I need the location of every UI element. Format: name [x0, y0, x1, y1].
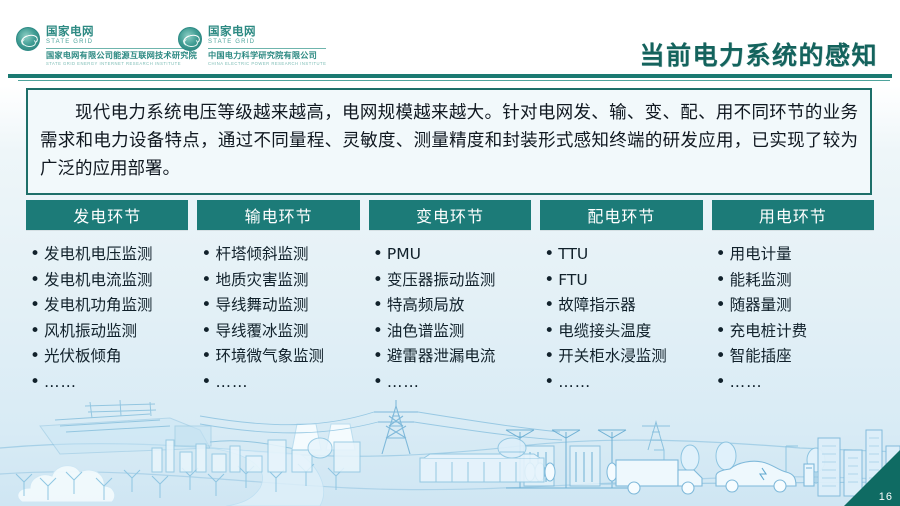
list-item-label: 故障指示器 [558, 293, 636, 319]
list-item: •FTU [544, 268, 702, 294]
list-item-label: 充电桩计费 [730, 319, 808, 345]
list-item-label: 发电机功角监测 [44, 293, 153, 319]
list-item: •电缆接头温度 [544, 319, 702, 345]
column-item-list: •PMU •变压器振动监测 •特高频局放 •油色谱监测 •避雷器泄漏电流 •…… [369, 240, 531, 407]
list-item-ellipsis: •…… [30, 370, 188, 396]
slide-root: 国家电网 STATE GRID 国家电网有限公司能源互联网技术研究院 STATE… [0, 0, 900, 506]
page-number: 16 [879, 491, 893, 503]
list-item-label: 用电计量 [730, 242, 792, 268]
column-item-list: •用电计量 •能耗监测 •随器量测 •充电桩计费 •智能插座 •…… [712, 240, 874, 407]
logo-state-grid-cepri: 国家电网 STATE GRID 中国电力科学研究院有限公司 CHINA ELEC… [178, 26, 326, 67]
bullet-dot-icon: • [544, 268, 554, 294]
column-item-list: •TTU •FTU •故障指示器 •电缆接头温度 •开关柜水浸监测 •…… [540, 240, 702, 407]
list-item-label: 变压器振动监测 [387, 268, 496, 294]
logo-divider [46, 48, 197, 49]
list-item-label: 电缆接头温度 [558, 319, 651, 345]
list-item: •随器量测 [716, 293, 874, 319]
column-header: 用电环节 [712, 200, 874, 230]
state-grid-emblem-icon [16, 27, 40, 51]
list-item: •发电机电压监测 [30, 242, 188, 268]
bullet-dot-icon: • [373, 242, 383, 268]
list-item: •地质灾害监测 [201, 268, 359, 294]
slide-header: 国家电网 STATE GRID 国家电网有限公司能源互联网技术研究院 STATE… [0, 0, 900, 78]
bullet-dot-icon: • [544, 319, 554, 345]
transmission-tower-icon [374, 400, 418, 454]
column-distribution: 配电环节 •TTU •FTU •故障指示器 •电缆接头温度 •开关柜水浸监测 •… [540, 200, 702, 407]
bullet-dot-icon: • [716, 242, 726, 268]
list-item-label: 杆塔倾斜监测 [215, 242, 308, 268]
list-item: •导线覆冰监测 [201, 319, 359, 345]
distribution-tower-icon [642, 422, 670, 450]
header-rule-thick [8, 74, 892, 78]
list-item-label: 随器量测 [730, 293, 792, 319]
bullet-dot-icon: • [201, 242, 211, 268]
column-header: 输电环节 [197, 200, 359, 230]
bullet-dot-icon: • [30, 293, 40, 319]
bullet-dot-icon: • [201, 319, 211, 345]
list-item-label: 油色谱监测 [387, 319, 465, 345]
logo-divider [208, 48, 326, 49]
logo-text-block: 国家电网 STATE GRID 中国电力科学研究院有限公司 CHINA ELEC… [208, 26, 326, 67]
bullet-dot-icon: • [30, 268, 40, 294]
list-item: •油色谱监测 [373, 319, 531, 345]
list-item: •开关柜水浸监测 [544, 344, 702, 370]
list-item-label: 避雷器泄漏电流 [387, 344, 496, 370]
logo-institute-en: STATE GRID ENERGY INTERNET RESEARCH INST… [46, 61, 197, 67]
logo-text-block: 国家电网 STATE GRID 国家电网有限公司能源互联网技术研究院 STATE… [46, 26, 197, 67]
list-item-label: 导线舞动监测 [215, 293, 308, 319]
bullet-dot-icon: • [201, 344, 211, 370]
cloud-icon [18, 466, 115, 502]
charging-post-icon [804, 464, 814, 486]
logo-institute-en: CHINA ELECTRIC POWER RESEARCH INSTITUTE [208, 61, 326, 67]
logo-company-cn: 国家电网 [208, 26, 326, 38]
bullet-dot-icon: • [30, 242, 40, 268]
bullet-dot-icon: • [544, 293, 554, 319]
logo-institute-cn: 中国电力科学研究院有限公司 [208, 51, 326, 61]
power-grid-illustration: 16 [0, 396, 900, 506]
list-item: •杆塔倾斜监测 [201, 242, 359, 268]
list-item-label: 发电机电压监测 [44, 242, 153, 268]
list-item-label: 导线覆冰监测 [215, 319, 308, 345]
power-lines-icon [200, 412, 562, 440]
list-item-label: 地质灾害监测 [215, 268, 308, 294]
column-substation: 变电环节 •PMU •变压器振动监测 •特高频局放 •油色谱监测 •避雷器泄漏电… [369, 200, 531, 407]
list-item: •风机振动监测 [30, 319, 188, 345]
bullet-dot-icon: • [201, 268, 211, 294]
state-grid-emblem-icon [178, 27, 202, 51]
list-item-label: TTU [558, 242, 588, 268]
column-consumption: 用电环节 •用电计量 •能耗监测 •随器量测 •充电桩计费 •智能插座 •…… [712, 200, 874, 407]
column-generation: 发电环节 •发电机电压监测 •发电机电流监测 •发电机功角监测 •风机振动监测 … [26, 200, 188, 407]
grid-scene-svg [0, 396, 900, 506]
column-item-list: •发电机电压监测 •发电机电流监测 •发电机功角监测 •风机振动监测 •光伏板倾… [26, 240, 188, 407]
list-item-label: 智能插座 [730, 344, 792, 370]
list-item: •导线舞动监测 [201, 293, 359, 319]
list-item: •特高频局放 [373, 293, 531, 319]
bullet-dot-icon: • [716, 370, 726, 396]
list-item-label: 发电机电流监测 [44, 268, 153, 294]
bullet-dot-icon: • [30, 370, 40, 396]
list-item-ellipsis: •…… [373, 370, 531, 396]
segment-columns: 发电环节 •发电机电压监测 •发电机电流监测 •发电机功角监测 •风机振动监测 … [26, 200, 874, 407]
list-item-ellipsis: •…… [716, 370, 874, 396]
list-item-label: …… [387, 370, 420, 396]
list-item: •用电计量 [716, 242, 874, 268]
intro-paragraph-box: 现代电力系统电压等级越来越高，电网规模越来越大。针对电网发、输、变、配、用不同环… [26, 88, 872, 195]
bullet-dot-icon: • [373, 344, 383, 370]
bullet-dot-icon: • [201, 293, 211, 319]
list-item-label: PMU [387, 242, 421, 268]
bullet-dot-icon: • [544, 370, 554, 396]
logo-company-en: STATE GRID [46, 38, 197, 46]
list-item-label: …… [558, 370, 591, 396]
column-transmission: 输电环节 •杆塔倾斜监测 •地质灾害监测 •导线舞动监测 •导线覆冰监测 •环境… [197, 200, 359, 407]
column-header: 发电环节 [26, 200, 188, 230]
bullet-dot-icon: • [373, 268, 383, 294]
list-item-ellipsis: •…… [201, 370, 359, 396]
page-title: 当前电力系统的感知 [639, 36, 878, 72]
list-item-label: …… [44, 370, 77, 396]
bullet-dot-icon: • [544, 344, 554, 370]
list-item-label: 能耗监测 [730, 268, 792, 294]
header-rule-thin [18, 80, 890, 82]
list-item-label: 光伏板倾角 [44, 344, 122, 370]
list-item-label: …… [730, 370, 763, 396]
list-item-label: 开关柜水浸监测 [558, 344, 667, 370]
list-item: •避雷器泄漏电流 [373, 344, 531, 370]
bullet-dot-icon: • [716, 319, 726, 345]
public-building-icon [420, 438, 544, 482]
column-header: 变电环节 [369, 200, 531, 230]
list-item: •变压器振动监测 [373, 268, 531, 294]
bullet-dot-icon: • [544, 242, 554, 268]
list-item-ellipsis: •…… [544, 370, 702, 396]
bullet-dot-icon: • [373, 293, 383, 319]
list-item: •发电机功角监测 [30, 293, 188, 319]
list-item: •充电桩计费 [716, 319, 874, 345]
list-item: •故障指示器 [544, 293, 702, 319]
bullet-dot-icon: • [373, 370, 383, 396]
logo-company-cn: 国家电网 [46, 26, 197, 38]
logo-state-grid-eiri: 国家电网 STATE GRID 国家电网有限公司能源互联网技术研究院 STATE… [16, 26, 197, 67]
column-header: 配电环节 [540, 200, 702, 230]
list-item: •TTU [544, 242, 702, 268]
bullet-dot-icon: • [201, 370, 211, 396]
list-item: •智能插座 [716, 344, 874, 370]
bullet-dot-icon: • [30, 344, 40, 370]
list-item-label: 特高频局放 [387, 293, 465, 319]
bullet-dot-icon: • [30, 319, 40, 345]
list-item: •发电机电流监测 [30, 268, 188, 294]
logo-company-en: STATE GRID [208, 38, 326, 46]
intro-paragraph-text: 现代电力系统电压等级越来越高，电网规模越来越大。针对电网发、输、变、配、用不同环… [40, 99, 858, 183]
list-item: •光伏板倾角 [30, 344, 188, 370]
list-item-label: 环境微气象监测 [215, 344, 324, 370]
bullet-dot-icon: • [716, 344, 726, 370]
column-item-list: •杆塔倾斜监测 •地质灾害监测 •导线舞动监测 •导线覆冰监测 •环境微气象监测… [197, 240, 359, 407]
bullet-dot-icon: • [716, 268, 726, 294]
list-item-label: …… [215, 370, 248, 396]
list-item-label: 风机振动监测 [44, 319, 137, 345]
list-item-label: FTU [558, 268, 587, 294]
bullet-dot-icon: • [373, 319, 383, 345]
list-item: •环境微气象监测 [201, 344, 359, 370]
list-item: •PMU [373, 242, 531, 268]
bullet-dot-icon: • [716, 293, 726, 319]
logo-institute-cn: 国家电网有限公司能源互联网技术研究院 [46, 51, 197, 61]
list-item: •能耗监测 [716, 268, 874, 294]
